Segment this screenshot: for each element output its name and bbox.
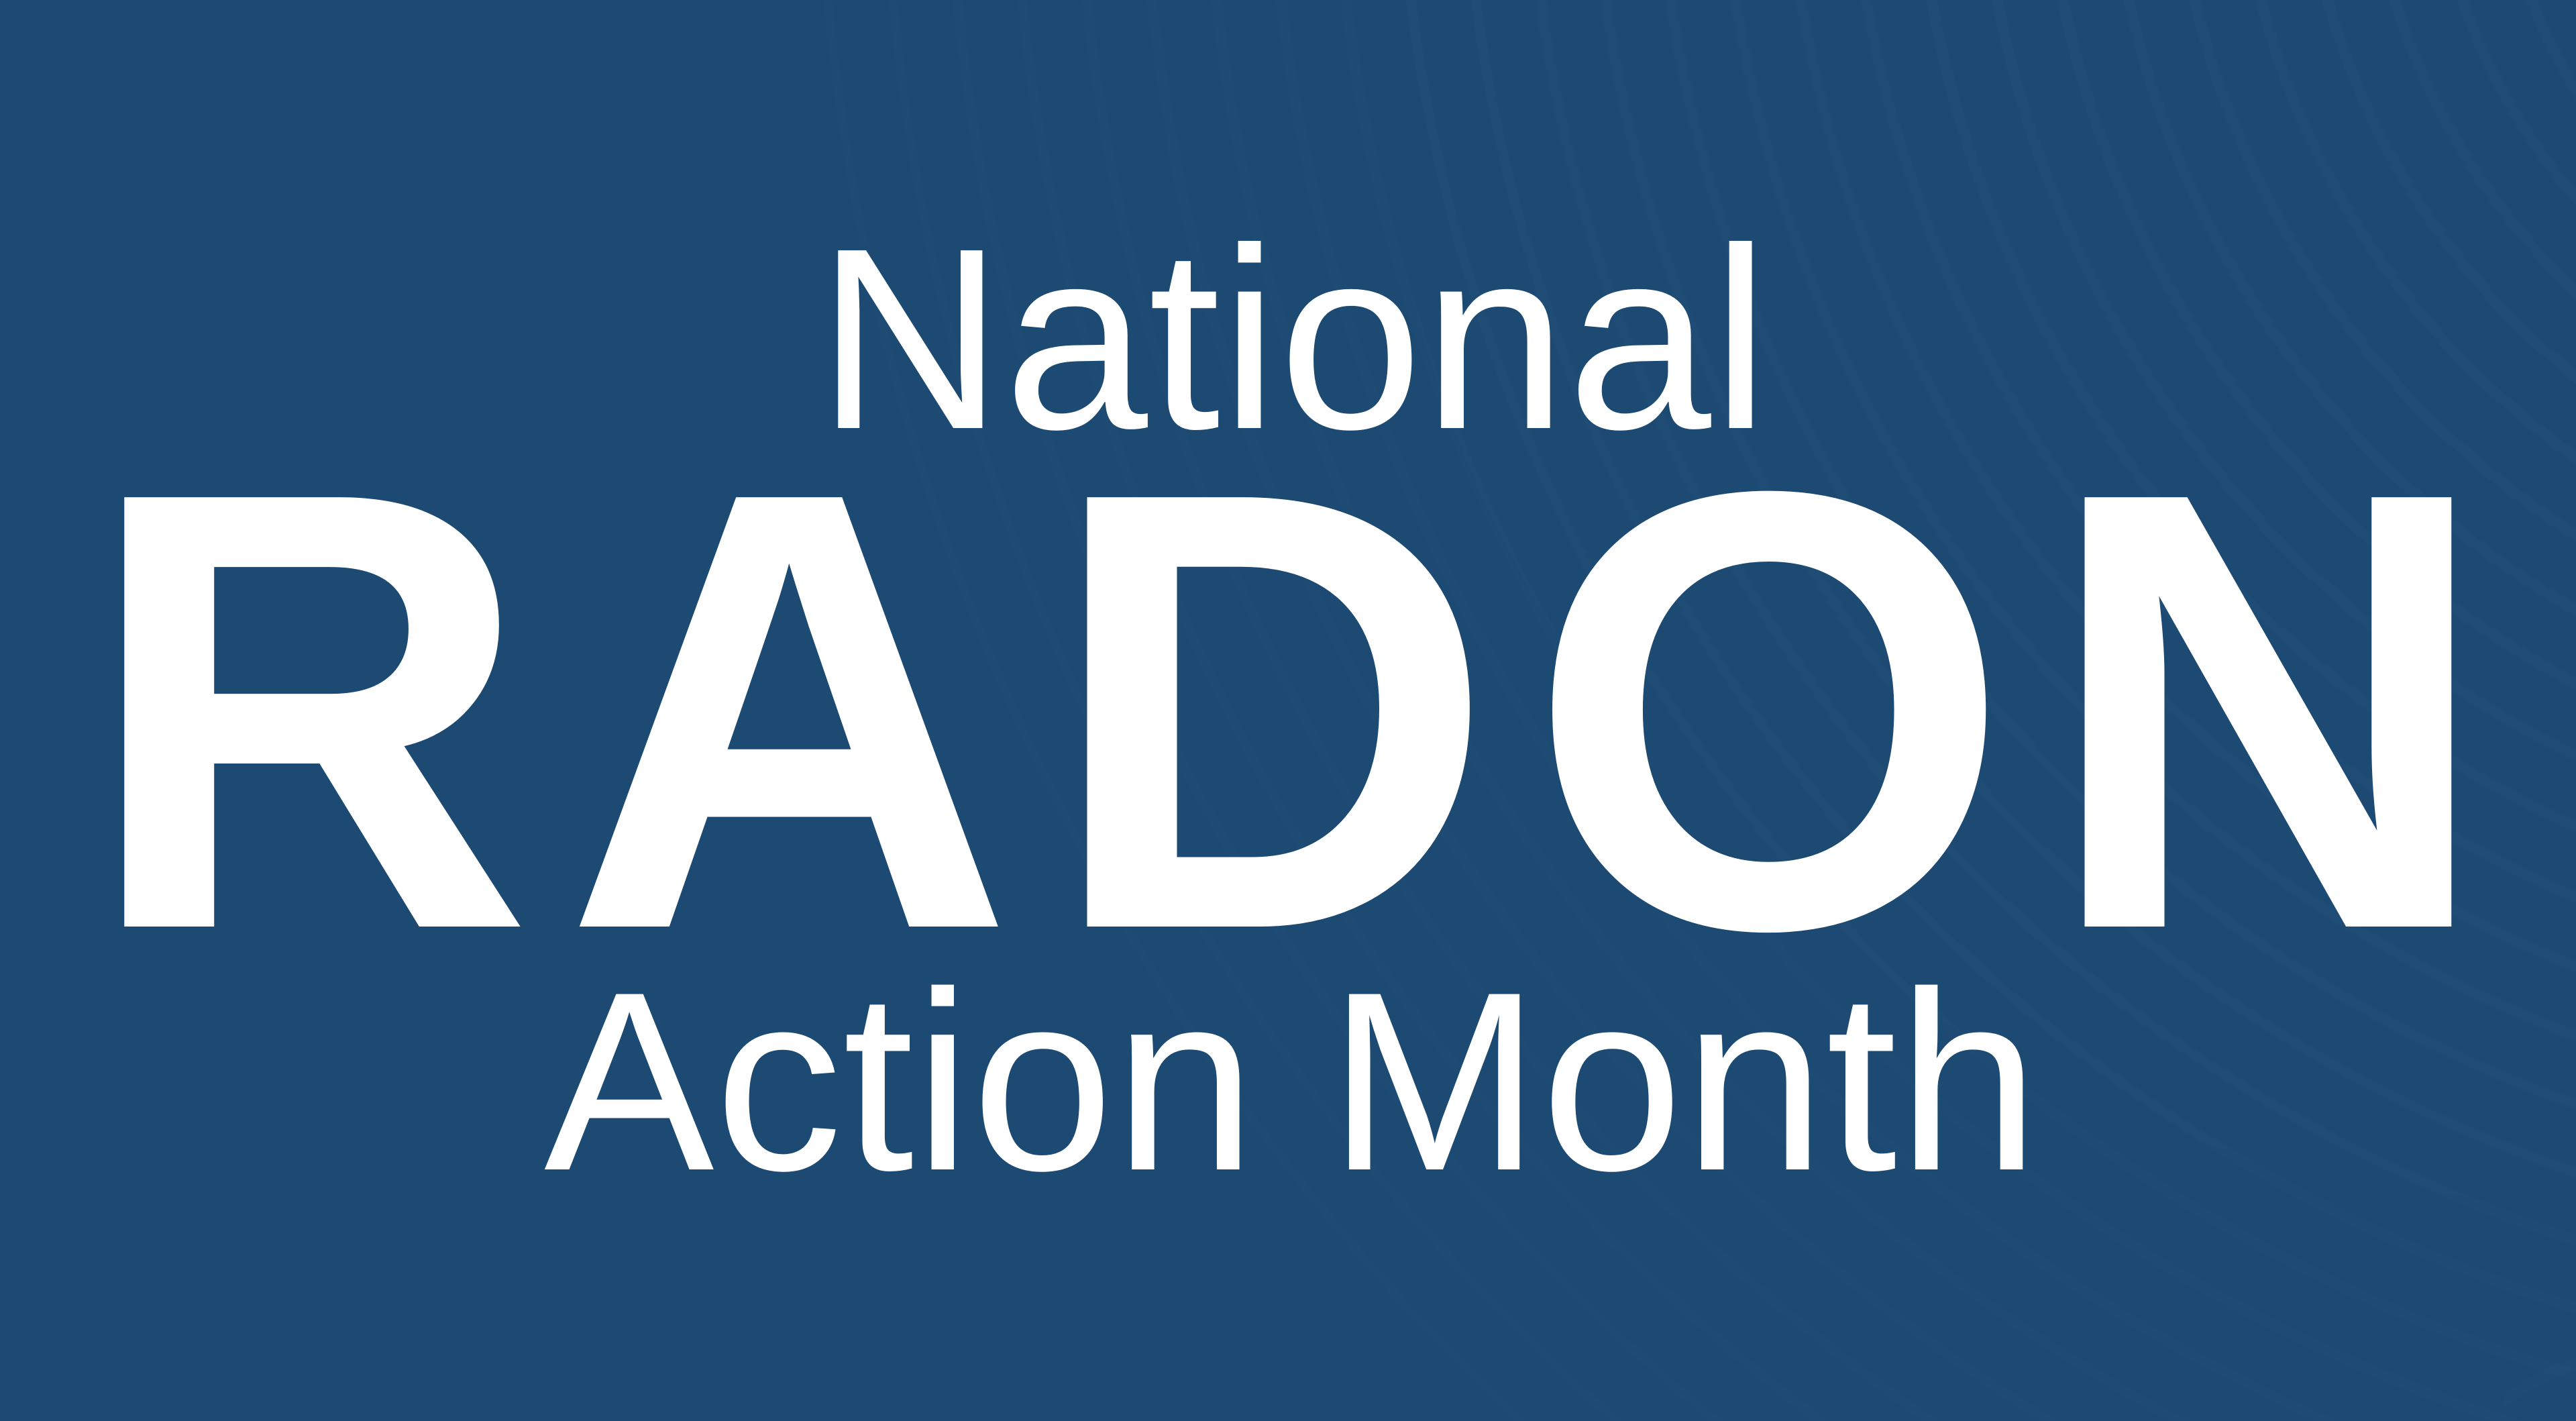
headline-block: National RADON Action Month bbox=[0, 0, 2576, 1421]
poster-canvas: National RADON Action Month bbox=[0, 0, 2576, 1421]
headline-text-radon: RADON bbox=[52, 462, 2524, 961]
subline-text-action-month: Action Month bbox=[544, 974, 2040, 1188]
